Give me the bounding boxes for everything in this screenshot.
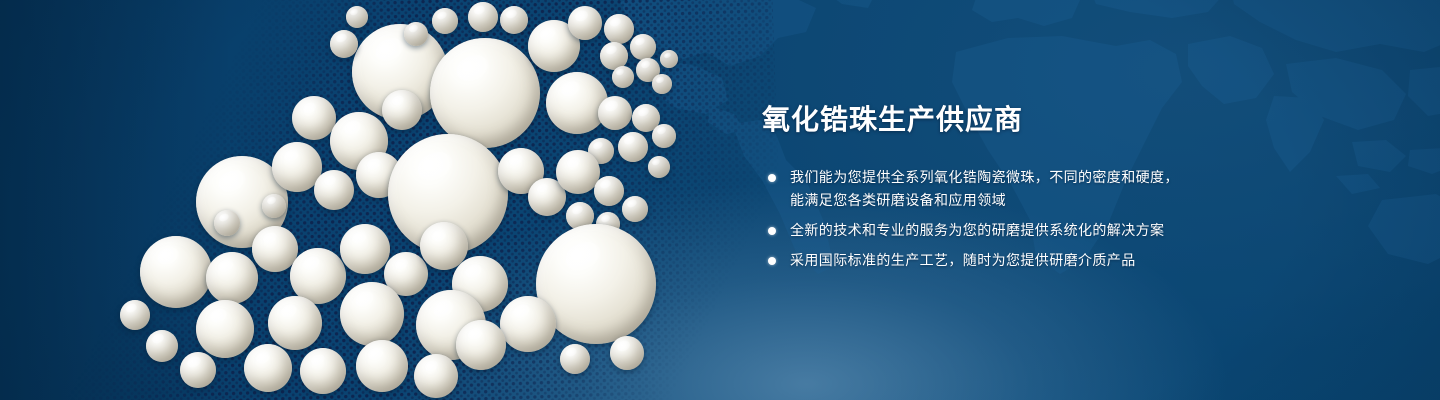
- list-item: 采用国际标准的生产工艺，随时为您提供研磨介质产品: [762, 249, 1362, 272]
- list-item: 我们能为您提供全系列氧化锆陶瓷微珠，不同的密度和硬度， 能满足您各类研磨设备和应…: [762, 166, 1362, 212]
- list-item-line: 全新的技术和专业的服务为您的研磨提供系统化的解决方案: [790, 219, 1362, 242]
- hero-banner: 氧化锆珠生产供应商 我们能为您提供全系列氧化锆陶瓷微珠，不同的密度和硬度， 能满…: [0, 0, 1440, 400]
- bullet-dot-icon: [768, 257, 776, 265]
- bullet-dot-icon: [768, 227, 776, 235]
- list-item: 全新的技术和专业的服务为您的研磨提供系统化的解决方案: [762, 219, 1362, 242]
- list-item-line: 采用国际标准的生产工艺，随时为您提供研磨介质产品: [790, 249, 1362, 272]
- list-item-line: 能满足您各类研磨设备和应用领域: [790, 189, 1362, 212]
- feature-list: 我们能为您提供全系列氧化锆陶瓷微珠，不同的密度和硬度， 能满足您各类研磨设备和应…: [762, 166, 1362, 272]
- list-item-line: 我们能为您提供全系列氧化锆陶瓷微珠，不同的密度和硬度，: [790, 166, 1362, 189]
- bullet-dot-icon: [768, 174, 776, 182]
- page-title: 氧化锆珠生产供应商: [762, 104, 1362, 136]
- banner-text-block: 氧化锆珠生产供应商 我们能为您提供全系列氧化锆陶瓷微珠，不同的密度和硬度， 能满…: [762, 104, 1362, 272]
